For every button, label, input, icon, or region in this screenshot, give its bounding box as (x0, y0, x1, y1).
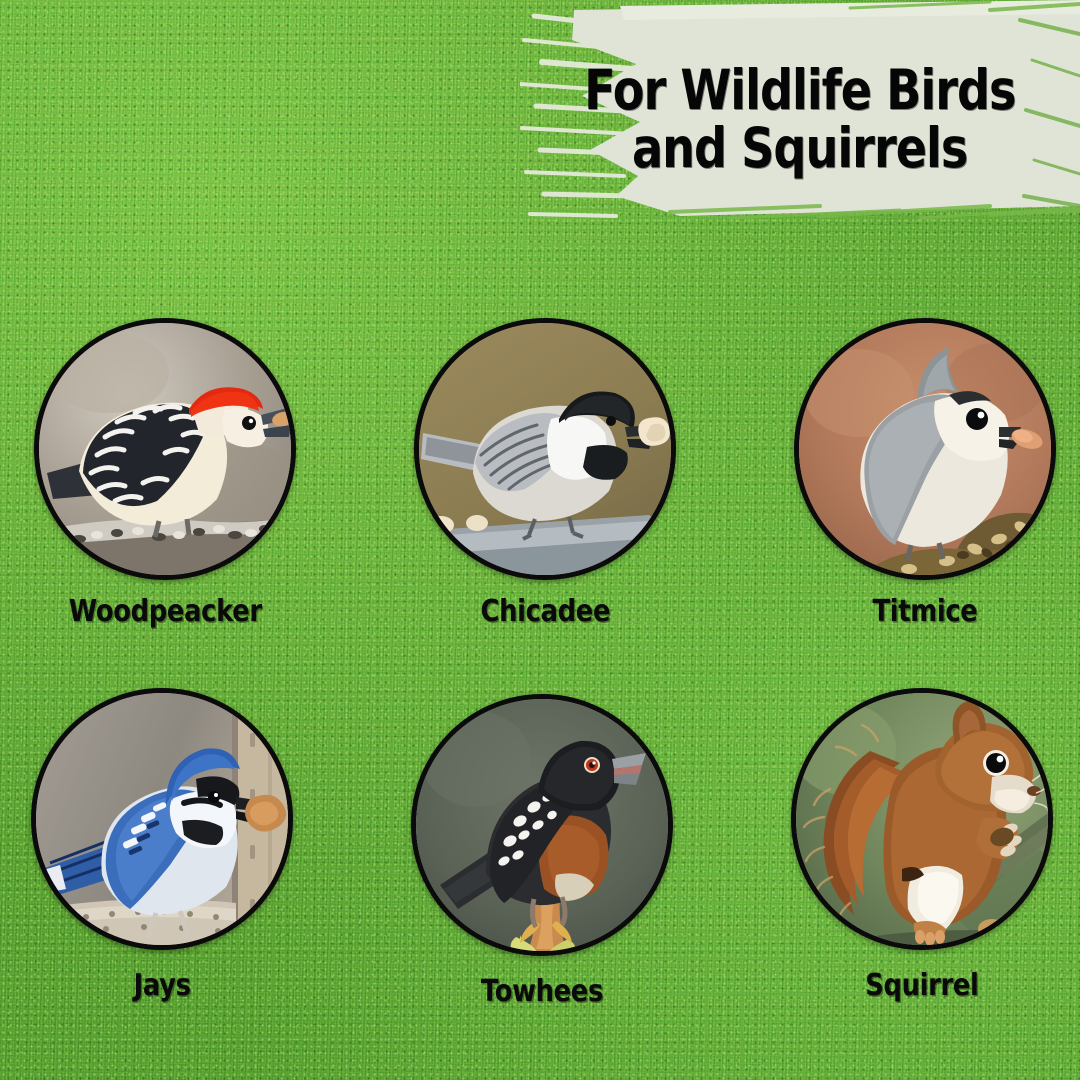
squirrel-medallion[interactable] (791, 688, 1053, 950)
animal-card-towhees[interactable]: Towhees (402, 694, 682, 1009)
animal-label: Titmice (873, 594, 978, 629)
animal-card-jays[interactable]: Jays (22, 688, 302, 1003)
blue-jay-photo (36, 693, 288, 945)
spotted-towhee-photo (416, 699, 668, 951)
red-bellied-woodpecker-photo (39, 323, 291, 575)
animal-row-top: Woodpeacker (0, 318, 1080, 629)
header-title-line-1: For Wildlife Birds (584, 61, 1015, 119)
animal-label: Towhees (481, 974, 603, 1009)
animal-card-titmice[interactable]: Titmice (785, 318, 1065, 629)
animal-label: Woodpeacker (68, 594, 261, 629)
animal-label: Chicadee (480, 594, 610, 629)
animal-grid: Woodpeacker (0, 318, 1080, 1009)
animal-card-squirrel[interactable]: Squirrel (782, 688, 1062, 1003)
jays-medallion[interactable] (31, 688, 293, 950)
titmice-medallion[interactable] (794, 318, 1056, 580)
animal-card-chicadee[interactable]: Chicadee (405, 318, 685, 629)
black-capped-chickadee-photo (419, 323, 671, 575)
animal-label: Squirrel (865, 968, 978, 1003)
red-squirrel-photo (796, 693, 1048, 945)
towhees-medallion[interactable] (411, 694, 673, 956)
chicadee-medallion[interactable] (414, 318, 676, 580)
animal-row-bottom: Jays (0, 694, 1080, 1009)
woodpeacker-medallion[interactable] (34, 318, 296, 580)
header-banner: For Wildlife Birds and Squirrels (520, 0, 1080, 232)
animal-label: Jays (133, 968, 190, 1003)
animal-card-woodpeacker[interactable]: Woodpeacker (25, 318, 305, 629)
infographic-canvas: For Wildlife Birds and Squirrels (0, 0, 1080, 1080)
header-title-line-2: and Squirrels (632, 119, 967, 177)
tufted-titmouse-photo (799, 323, 1051, 575)
